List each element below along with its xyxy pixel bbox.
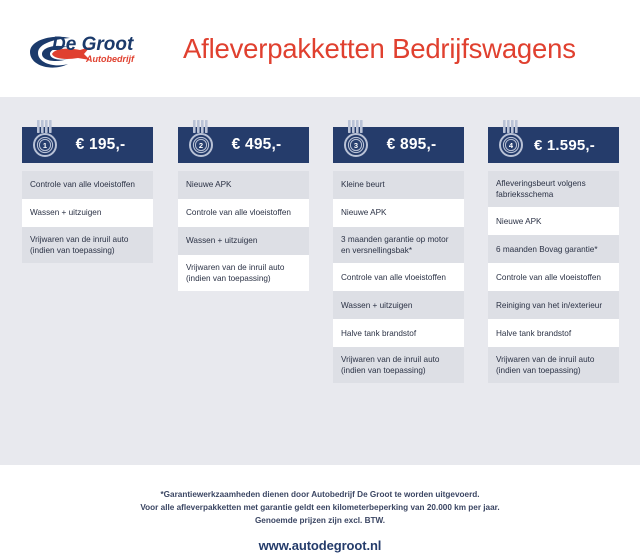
page-title: Afleverpakketten Bedrijfswagens [183, 33, 576, 65]
bottom-white-strip [0, 465, 640, 480]
package-item: Nieuwe APK [333, 199, 464, 227]
package-header-4: 4€ 1.595,- [488, 127, 619, 163]
package-item: Nieuwe APK [488, 207, 619, 235]
package-item: Vrijwaren van de inruil auto(indien van … [22, 227, 153, 263]
package-item: Vrijwaren van de inruil auto(indien van … [333, 347, 464, 383]
package-columns: 1€ 195,-Controle van alle vloeistoffenWa… [0, 97, 640, 465]
package-item: Wassen + uitzuigen [22, 199, 153, 227]
package-item: Halve tank brandstof [488, 319, 619, 347]
package-item: Vrijwaren van de inruil auto(indien van … [488, 347, 619, 383]
svg-text:Autobedrijf: Autobedrijf [85, 54, 135, 64]
package-item: Wassen + uitzuigen [178, 227, 309, 255]
package-column-1: 1€ 195,-Controle van alle vloeistoffenWa… [22, 127, 153, 263]
package-item: Controle van alle vloeistoffen [333, 263, 464, 291]
package-item: Afleveringsbeurt volgensfabrieksschema [488, 171, 619, 207]
package-header-3: 3€ 895,- [333, 127, 464, 163]
package-item-list: Controle van alle vloeistoffenWassen + u… [22, 171, 153, 263]
package-item: Controle van alle vloeistoffen [178, 199, 309, 227]
page-root: De Groot Autobedrijf Afleverpakketten Be… [0, 0, 640, 480]
footer-note-line: Voor alle afleverpakketten met garantie … [0, 502, 640, 515]
package-column-4: 4€ 1.595,-Afleveringsbeurt volgensfabrie… [488, 127, 619, 383]
medal-icon: 3 [342, 119, 370, 159]
svg-text:2: 2 [199, 141, 203, 150]
package-item: Reiniging van het in/exterieur [488, 291, 619, 319]
package-item: Nieuwe APK [178, 171, 309, 199]
package-column-3: 3€ 895,-Kleine beurtNieuwe APK3 maanden … [333, 127, 464, 383]
package-item: 6 maanden Bovag garantie* [488, 235, 619, 263]
svg-text:1: 1 [43, 141, 47, 150]
package-item-list: Afleveringsbeurt volgensfabrieksschemaNi… [488, 171, 619, 383]
package-item: 3 maanden garantie op motoren versnellin… [333, 227, 464, 263]
content-band: 1€ 195,-Controle van alle vloeistoffenWa… [0, 97, 640, 465]
package-item: Controle van alle vloeistoffen [22, 171, 153, 199]
package-item-list: Nieuwe APKControle van alle vloeistoffen… [178, 171, 309, 291]
package-column-2: 2€ 495,-Nieuwe APKControle van alle vloe… [178, 127, 309, 291]
package-item: Controle van alle vloeistoffen [488, 263, 619, 291]
medal-icon: 1 [31, 119, 59, 159]
company-logo: De Groot Autobedrijf [22, 28, 172, 76]
footer-note-line: Genoemde prijzen zijn excl. BTW. [0, 515, 640, 528]
package-item: Vrijwaren van de inruil auto(indien van … [178, 255, 309, 291]
svg-text:3: 3 [354, 141, 358, 150]
svg-text:De Groot: De Groot [52, 34, 134, 55]
package-item: Kleine beurt [333, 171, 464, 199]
package-item: Halve tank brandstof [333, 319, 464, 347]
footer-disclaimer: *Garantiewerkzaamheden dienen door Autob… [0, 489, 640, 528]
medal-icon: 2 [187, 119, 215, 159]
footer-note-line: *Garantiewerkzaamheden dienen door Autob… [0, 489, 640, 502]
package-item-list: Kleine beurtNieuwe APK3 maanden garantie… [333, 171, 464, 383]
package-header-1: 1€ 195,- [22, 127, 153, 163]
page-header: De Groot Autobedrijf Afleverpakketten Be… [0, 0, 640, 97]
package-header-2: 2€ 495,- [178, 127, 309, 163]
package-item: Wassen + uitzuigen [333, 291, 464, 319]
medal-icon: 4 [497, 119, 525, 159]
website-link[interactable]: www.autodegroot.nl [0, 538, 640, 553]
